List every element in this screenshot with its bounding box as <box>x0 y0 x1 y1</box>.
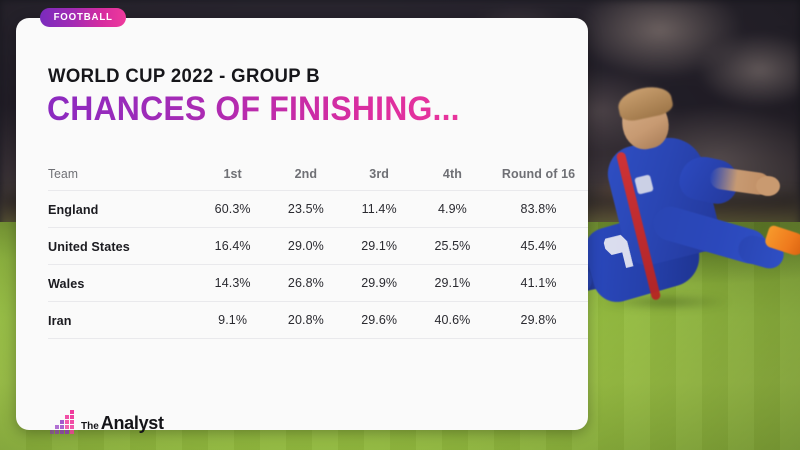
category-badge-label: FOOTBALL <box>54 12 113 23</box>
cell-first: 16.4% <box>196 239 269 253</box>
brand-prefix: The <box>81 422 99 432</box>
brand-name: Analyst <box>101 414 164 432</box>
table-row: Wales 14.3% 26.8% 29.9% 29.1% 41.1% <box>48 265 588 302</box>
cell-first: 9.1% <box>196 313 269 327</box>
column-header-third: 3rd <box>343 167 416 181</box>
cell-fourth: 40.6% <box>416 313 489 327</box>
column-header-fourth: 4th <box>416 167 489 181</box>
table-header-row: Team 1st 2nd 3rd 4th Round of 16 <box>48 158 588 191</box>
cell-second: 26.8% <box>269 276 342 290</box>
chances-table: Team 1st 2nd 3rd 4th Round of 16 England… <box>48 158 588 339</box>
cell-third: 29.9% <box>343 276 416 290</box>
player-shadow <box>570 292 760 312</box>
cell-second: 23.5% <box>269 202 342 216</box>
cell-third: 29.6% <box>343 313 416 327</box>
cell-first: 14.3% <box>196 276 269 290</box>
cell-second: 20.8% <box>269 313 342 327</box>
cell-round-of-16: 45.4% <box>489 239 588 253</box>
cell-fourth: 4.9% <box>416 202 489 216</box>
table-row: Iran 9.1% 20.8% 29.6% 40.6% 29.8% <box>48 302 588 339</box>
table-row: England 60.3% 23.5% 11.4% 4.9% 83.8% <box>48 191 588 228</box>
player-hand <box>756 176 780 196</box>
cell-team: United States <box>48 239 192 254</box>
column-header-round-of-16: Round of 16 <box>489 167 588 181</box>
screenshot-root: FOOTBALL WORLD CUP 2022 - GROUP B CHANCE… <box>0 0 800 450</box>
brand-wordmark: The Analyst <box>81 414 164 434</box>
cell-fourth: 29.1% <box>416 276 489 290</box>
column-header-team: Team <box>48 167 192 181</box>
cell-first: 60.3% <box>196 202 269 216</box>
stats-card: WORLD CUP 2022 - GROUP B CHANCES OF FINI… <box>16 18 588 430</box>
column-header-first: 1st <box>196 167 269 181</box>
cell-third: 29.1% <box>343 239 416 253</box>
analyst-bars-icon <box>50 410 75 434</box>
cell-fourth: 25.5% <box>416 239 489 253</box>
column-header-second: 2nd <box>269 167 342 181</box>
cell-second: 29.0% <box>269 239 342 253</box>
page-title: CHANCES OF FINISHING... <box>47 92 460 126</box>
category-badge: FOOTBALL <box>40 8 126 27</box>
table-row: United States 16.4% 29.0% 29.1% 25.5% 45… <box>48 228 588 265</box>
card-eyebrow: WORLD CUP 2022 - GROUP B <box>48 65 320 88</box>
cell-round-of-16: 41.1% <box>489 276 588 290</box>
cell-team: Iran <box>48 313 192 328</box>
cell-team: England <box>48 202 192 217</box>
cell-third: 11.4% <box>343 202 416 216</box>
footballer-figure <box>560 0 800 400</box>
cell-round-of-16: 83.8% <box>489 202 588 216</box>
cell-round-of-16: 29.8% <box>489 313 588 327</box>
cell-team: Wales <box>48 276 192 291</box>
brand-logo: The Analyst <box>50 410 164 434</box>
